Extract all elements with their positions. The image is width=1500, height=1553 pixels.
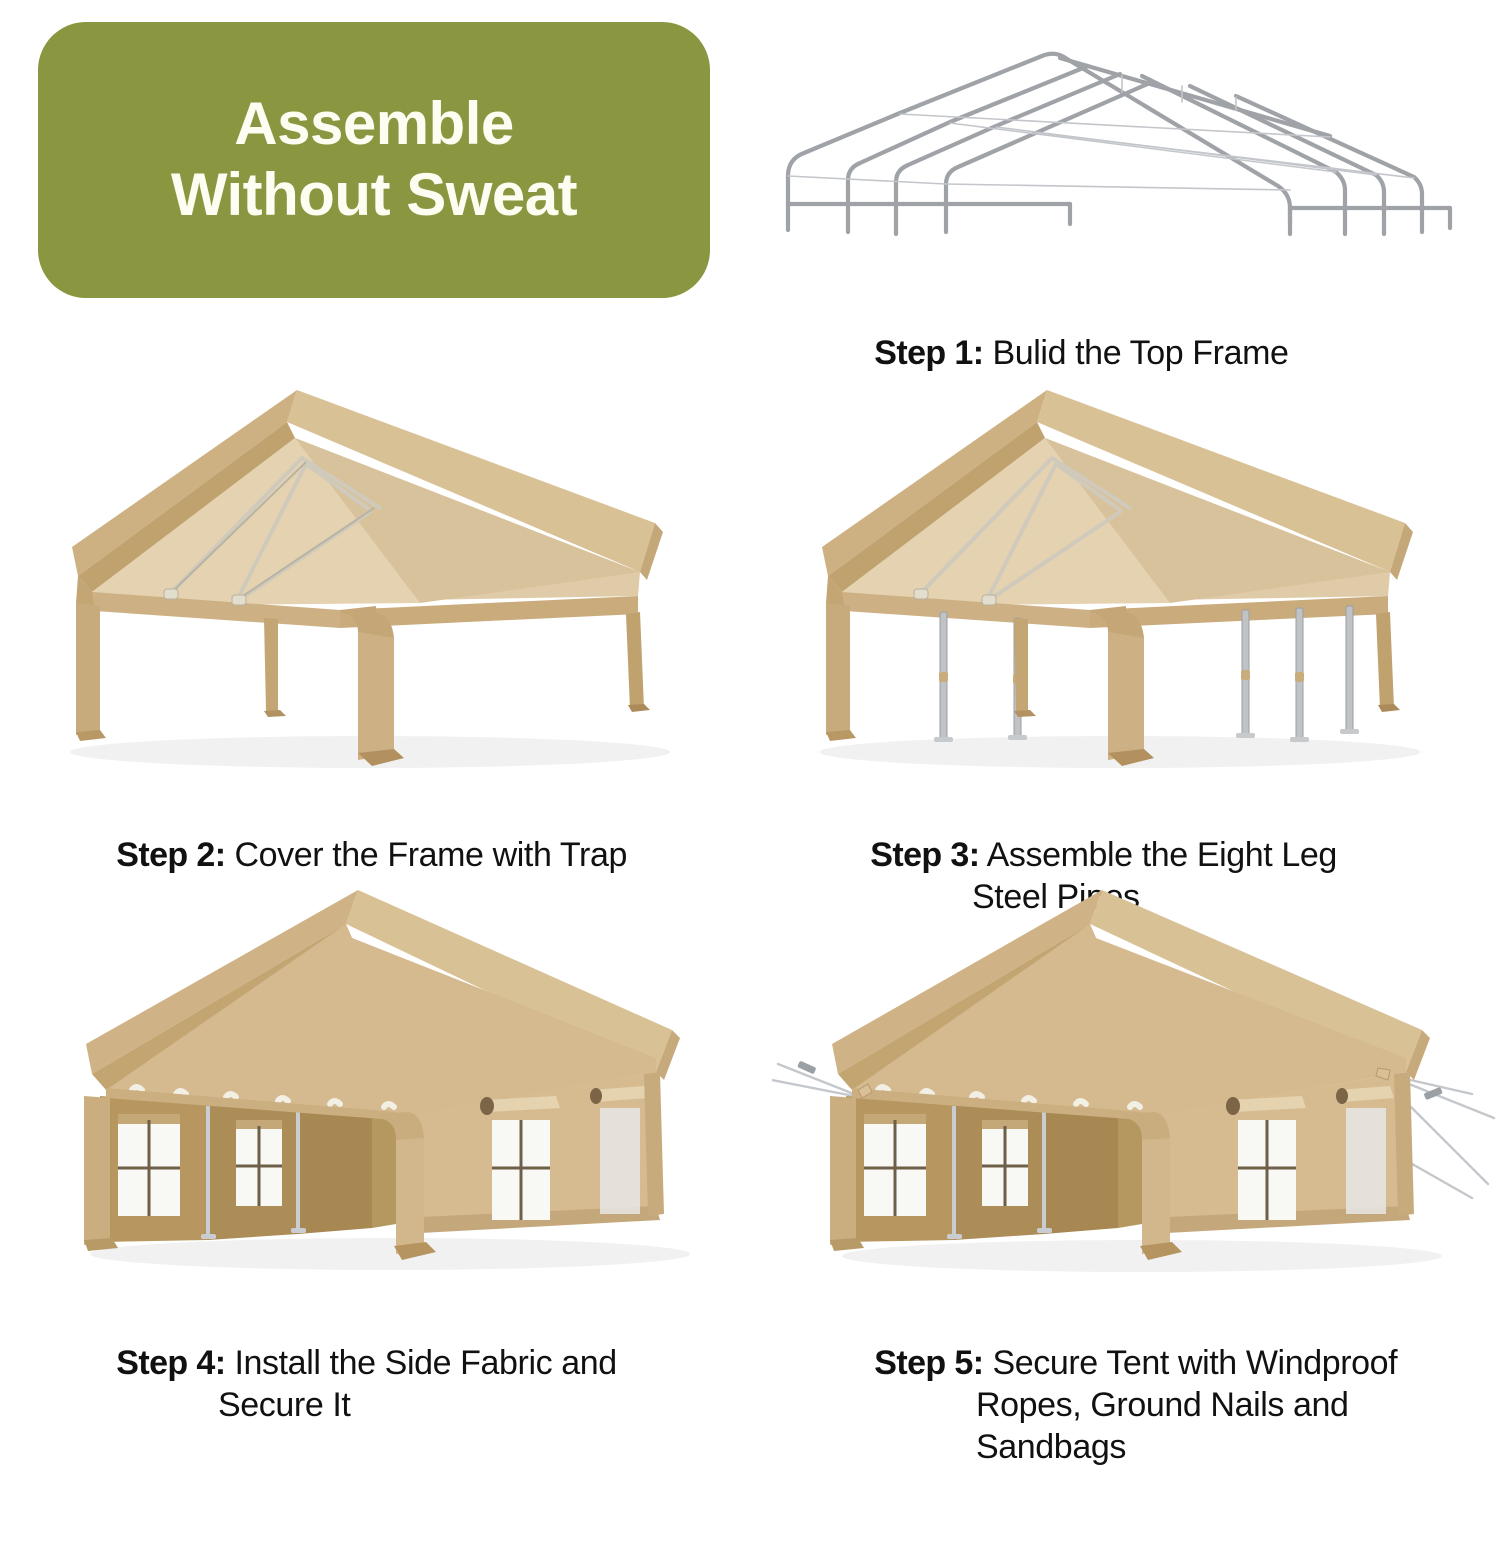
- step-3-illustration: [790, 360, 1490, 780]
- banner-line-1: Assemble: [234, 90, 513, 157]
- step-4-label: Step 4:: [116, 1344, 225, 1382]
- step-4-text-line2: Secure It: [218, 1386, 350, 1424]
- leg-steel-pipes: [934, 606, 1359, 742]
- step-panel-4: Step 4: Install the Side Fabric andSecur…: [40, 868, 740, 1511]
- step-panel-5: Step 5: Secure Tent with WindproofRopes,…: [772, 868, 1496, 1553]
- banner-text: Assemble Without Sweat: [171, 89, 577, 231]
- covered-canopy-diagram: [40, 360, 740, 780]
- step-5-caption: Step 5: Secure Tent with WindproofRopes,…: [772, 1300, 1496, 1553]
- step-panel-2: Step 2: Cover the Frame with Trap: [40, 360, 740, 918]
- step-2-illustration: [40, 360, 740, 780]
- step-4-text: Install the Side Fabric and: [234, 1344, 616, 1382]
- step-4-caption: Step 4: Install the Side Fabric andSecur…: [40, 1300, 740, 1511]
- top-frame-diagram: [770, 18, 1470, 268]
- tent-side-fabric-diagram: [40, 868, 740, 1286]
- window-left-1: [118, 1114, 180, 1216]
- step-4-illustration: [40, 868, 740, 1286]
- assemble-without-sweat-banner: Assemble Without Sweat: [38, 22, 710, 298]
- step-5-illustration: [772, 868, 1496, 1286]
- window-left-2: [236, 1120, 282, 1206]
- step-panel-1: Step 1: Bulid the Top Frame: [770, 18, 1470, 416]
- assembly-instructions-page: Assemble Without Sweat: [0, 0, 1500, 1435]
- step-5-text-line2: Ropes, Ground Nails and: [976, 1386, 1349, 1424]
- step-5-label: Step 5:: [874, 1344, 983, 1382]
- window-left-1: [864, 1114, 926, 1216]
- step-1-illustration: [770, 18, 1470, 268]
- window-left-2: [982, 1120, 1028, 1206]
- step-5-text: Secure Tent with Windproof: [992, 1344, 1397, 1382]
- step-5-text-line3: Sandbags: [976, 1428, 1126, 1466]
- canopy-with-legs-diagram: [790, 360, 1490, 780]
- tent-guy-ropes-diagram: [772, 868, 1496, 1286]
- banner-line-2: Without Sweat: [171, 160, 577, 231]
